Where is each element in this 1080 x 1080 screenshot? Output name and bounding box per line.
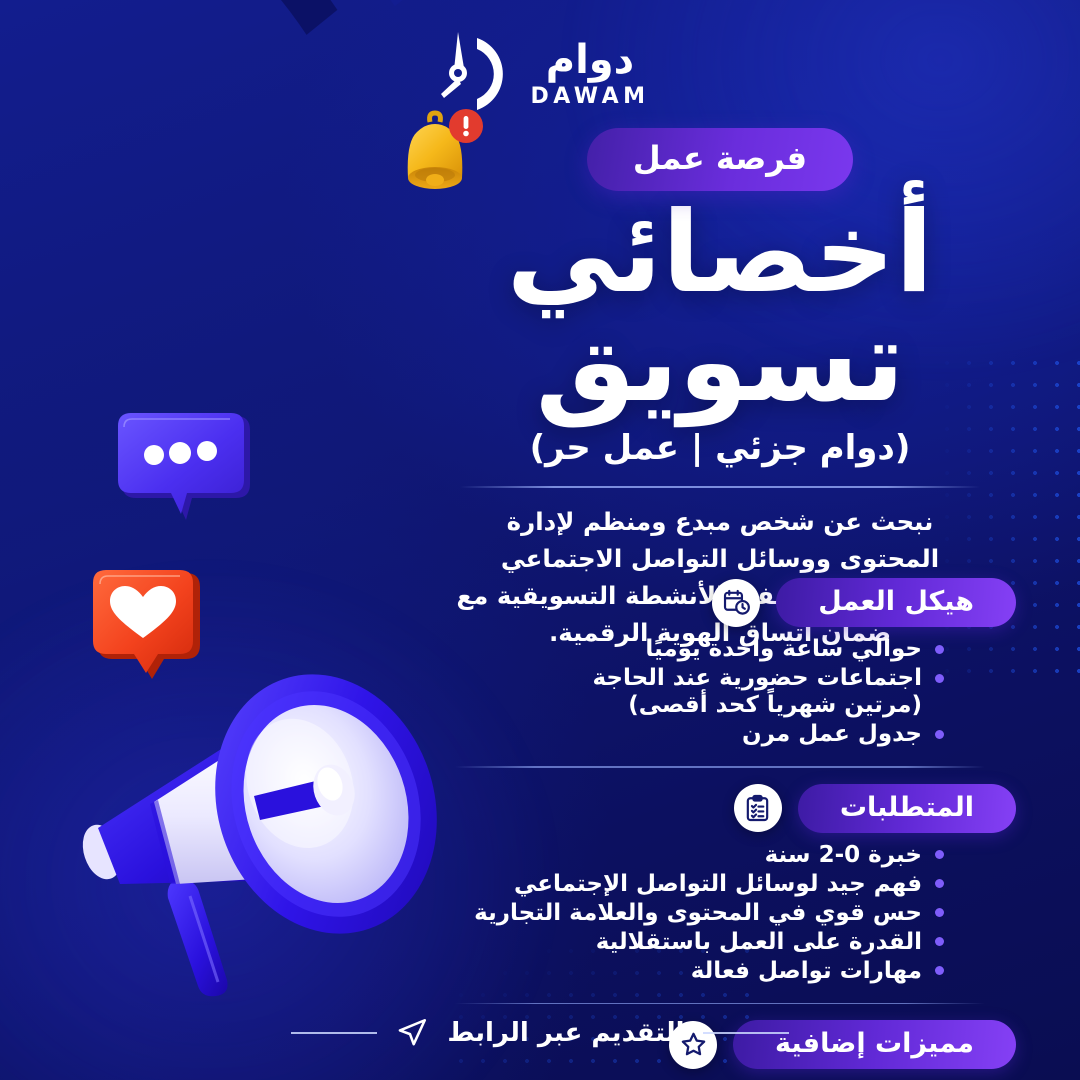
bullet-dot xyxy=(935,937,944,946)
bullet-dot xyxy=(935,879,944,888)
brand-wordmark: دوام DAWAM xyxy=(531,40,650,108)
bullet-dot xyxy=(935,674,944,683)
list-item: اجتماعات حضورية عند الحاجة xyxy=(400,665,944,691)
bullet-text: القدرة على العمل باستقلالية xyxy=(596,929,922,955)
brand-logo: دوام DAWAM xyxy=(0,24,1080,124)
bullet-text: حس قوي في المحتوى والعلامة التجارية xyxy=(474,900,922,926)
page-title: أخصائي تسويق xyxy=(400,199,1040,416)
bullet-text: حوالي ساعة واحدة يوميًا xyxy=(645,636,922,662)
section-bullets-requirements: خبرة 0-2 سنة فهم جيد لوسائل التواصل الإج… xyxy=(400,842,944,984)
send-paper-plane-icon[interactable] xyxy=(395,1016,429,1050)
calendar-clock-icon xyxy=(712,579,760,627)
list-item: (مرتين شهرياً كحد أقصى) xyxy=(400,692,944,718)
bullet-text: فهم جيد لوسائل التواصل الإجتماعي xyxy=(514,871,922,897)
bullet-dot xyxy=(935,645,944,654)
chat-bubble-3d-icon xyxy=(108,412,256,534)
bullet-text: خبرة 0-2 سنة xyxy=(765,842,922,868)
bullet-text: (مرتين شهرياً كحد أقصى) xyxy=(628,692,922,718)
section-requirements: المتطلبات خبرة 0-2 سنة فهم جيد لوسائل ال… xyxy=(400,784,1040,984)
clipboard-checklist-icon xyxy=(734,784,782,832)
footer-line-left xyxy=(291,1032,377,1034)
list-item: فهم جيد لوسائل التواصل الإجتماعي xyxy=(400,871,944,897)
section-divider xyxy=(455,766,985,768)
list-item: القدرة على العمل باستقلالية xyxy=(400,929,944,955)
section-title-requirements: المتطلبات xyxy=(798,784,1016,833)
headline-divider xyxy=(460,486,980,488)
list-item: خبرة 0-2 سنة xyxy=(400,842,944,868)
spacer xyxy=(400,987,1040,1003)
footer-line-right xyxy=(703,1032,789,1034)
section-header: المتطلبات xyxy=(400,784,1040,833)
bullet-dot xyxy=(935,908,944,917)
opportunity-badge-row: فرصة عمل xyxy=(400,128,1040,191)
list-item: مهارات تواصل فعالة xyxy=(400,958,944,984)
footer-cta-row: التقديم عبر الرابط xyxy=(0,1016,1080,1050)
list-item: حس قوي في المحتوى والعلامة التجارية xyxy=(400,900,944,926)
opportunity-badge: فرصة عمل xyxy=(587,128,853,191)
section-header: هيكل العمل xyxy=(400,578,1040,627)
list-item: جدول عمل مرن xyxy=(400,721,944,747)
section-divider xyxy=(455,1003,985,1005)
apply-cta-label[interactable]: التقديم عبر الرابط xyxy=(447,1018,684,1048)
brand-name-ar: دوام xyxy=(546,40,634,80)
bullet-dot xyxy=(935,730,944,739)
job-poster: دوام DAWAM فرصة عمل xyxy=(0,0,1080,1080)
brand-name-en: DAWAM xyxy=(531,86,650,108)
section-title-work-structure: هيكل العمل xyxy=(776,578,1016,627)
bullet-text: اجتماعات حضورية عند الحاجة xyxy=(592,665,922,691)
bullet-dot xyxy=(935,966,944,975)
bullet-dot xyxy=(935,850,944,859)
spacer xyxy=(400,750,1040,766)
list-item: حوالي ساعة واحدة يوميًا xyxy=(400,636,944,662)
job-title-line2: تسويق xyxy=(400,308,1040,417)
bell-alert-icon xyxy=(378,100,486,208)
section-work-structure: هيكل العمل حوالي ساعة واحدة يوميًا اجتما… xyxy=(400,578,1040,747)
bullet-text: جدول عمل مرن xyxy=(742,721,922,747)
sections-list: هيكل العمل حوالي ساعة واحدة يوميًا اجتما… xyxy=(400,578,1040,1080)
heart-reaction-3d-icon xyxy=(82,565,212,693)
bullet-text: مهارات تواصل فعالة xyxy=(691,958,922,984)
megaphone-3d-icon xyxy=(58,628,458,1008)
headline-block: فرصة عمل xyxy=(400,128,1040,651)
job-subtitle: (دوام جزئي | عمل حر) xyxy=(400,428,1040,468)
section-bullets-work-structure: حوالي ساعة واحدة يوميًا اجتماعات حضورية … xyxy=(400,636,944,747)
spacer xyxy=(400,768,1040,784)
